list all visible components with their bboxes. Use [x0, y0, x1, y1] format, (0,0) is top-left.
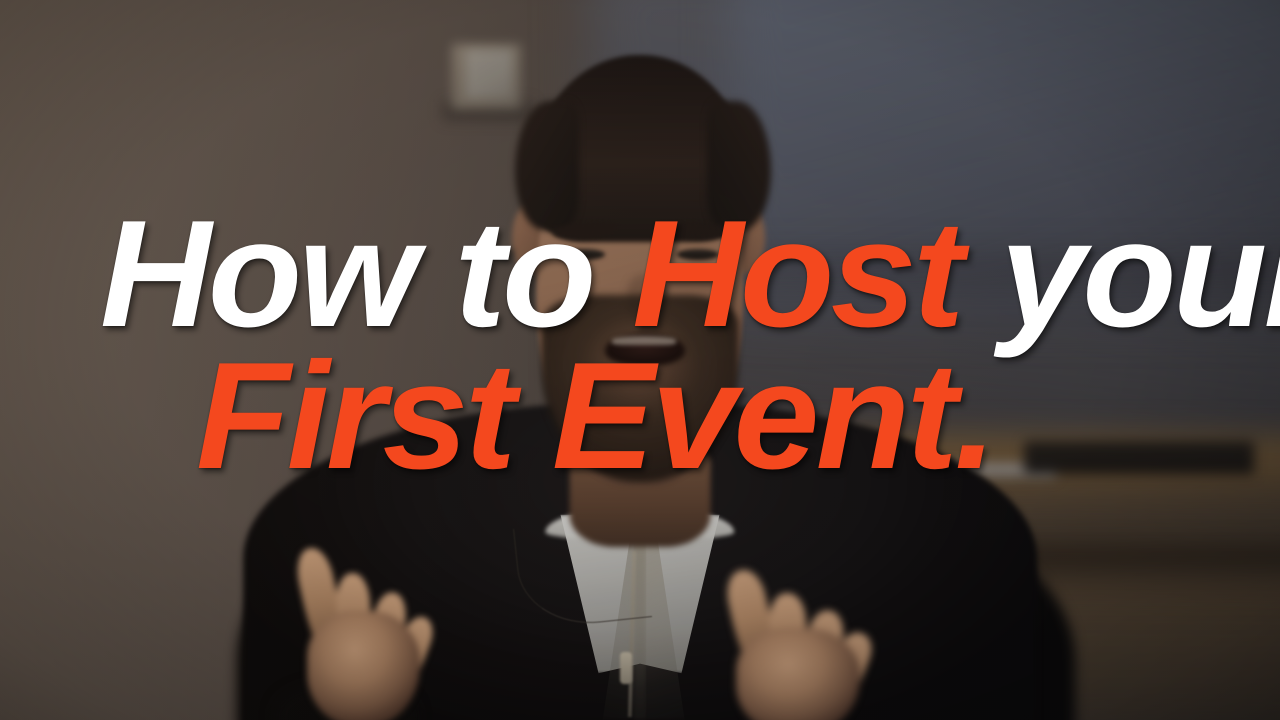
- video-frame: How to Host your First Event.: [0, 0, 1280, 720]
- hair-side-left: [515, 101, 579, 231]
- left-eye: [563, 249, 605, 260]
- teeth: [612, 336, 676, 345]
- subject-person: [0, 0, 1280, 720]
- right-eye: [677, 249, 719, 260]
- jacket-zipper-pull: [620, 652, 632, 684]
- palm: [307, 611, 421, 720]
- hair-side-right: [707, 101, 771, 231]
- right-hand: [723, 569, 889, 720]
- left-hand: [294, 547, 448, 720]
- palm: [736, 628, 859, 720]
